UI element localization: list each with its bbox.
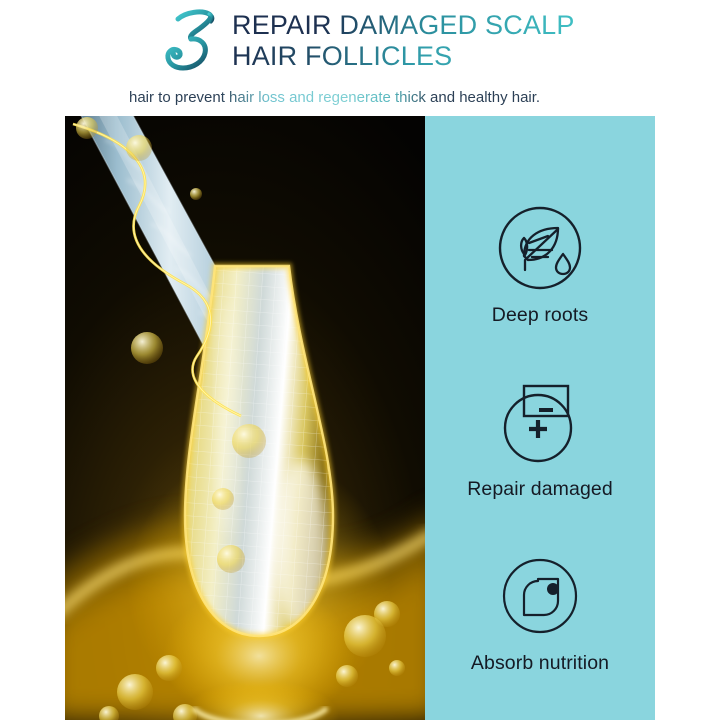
hair-follicle-illustration	[65, 116, 425, 720]
feature-item-deep-roots[interactable]: Deep roots	[425, 204, 655, 326]
feature-label-absorb-nutrition: Absorb nutrition	[425, 652, 655, 674]
feature-item-repair-damaged[interactable]: Repair damaged	[425, 378, 655, 500]
feature-label-deep-roots: Deep roots	[425, 304, 655, 326]
feature-label-repair-damaged: Repair damaged	[425, 478, 655, 500]
header: REPAIR DAMAGED SCALP HAIR FOLLICLES hair…	[0, 0, 720, 116]
features-panel: Deep roots Repair damaged Absorb nutriti…	[425, 116, 655, 720]
absorb-square-dot-icon	[496, 552, 584, 640]
page-title-line-2: HAIR FOLLICLES	[232, 41, 575, 72]
step-number-icon	[160, 6, 226, 76]
title-block: REPAIR DAMAGED SCALP HAIR FOLLICLES	[232, 4, 575, 72]
battery-plus-minus-icon	[496, 378, 584, 466]
leaf-droplet-icon	[496, 204, 584, 292]
feature-item-absorb-nutrition[interactable]: Absorb nutrition	[425, 552, 655, 674]
heading-row: REPAIR DAMAGED SCALP HAIR FOLLICLES	[160, 4, 575, 74]
hair-follicle-image	[65, 116, 425, 720]
subtitle: hair to prevent hair loss and regenerate…	[129, 88, 540, 107]
page-title-line-1: REPAIR DAMAGED SCALP	[232, 10, 575, 41]
